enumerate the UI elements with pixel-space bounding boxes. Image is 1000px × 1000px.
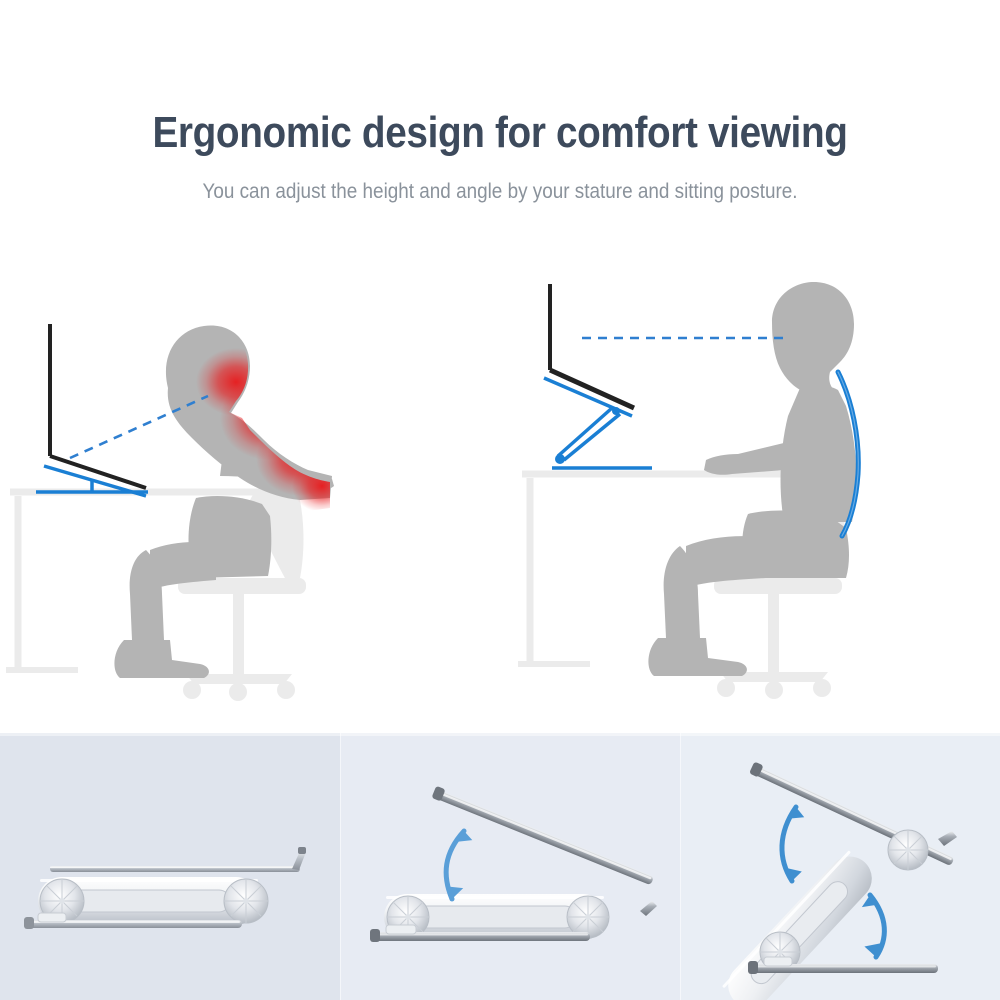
angle-adjust-arrow-tilted [444, 830, 472, 900]
bad-posture-illustration [0, 260, 500, 733]
product-panel-extended [680, 733, 1000, 1000]
stand-support-arm-extended [719, 847, 881, 1000]
good-posture-illustration [500, 260, 1000, 733]
product-photo-strip [0, 733, 1000, 1000]
laptop-on-low-stand [36, 324, 148, 496]
product-panel-tilted [340, 733, 680, 1000]
stand-lip-tilted [640, 901, 657, 916]
angle-adjust-arrow-lower [862, 894, 884, 959]
stand-base-rail-extended [748, 957, 938, 974]
stand-extended-svg [680, 733, 1000, 1000]
page-subtitle: You can adjust the height and angle by y… [50, 180, 950, 204]
stand-tilted-svg [340, 733, 680, 1000]
illustration-band [0, 260, 1000, 733]
stand-lip-extended [938, 831, 957, 846]
stand-hinge-hub-upper-extended [888, 830, 928, 870]
stand-top-plate-folded [50, 847, 306, 872]
angle-adjust-arrow-upper [782, 806, 804, 882]
stand-folded-svg [0, 733, 340, 1000]
page-title: Ergonomic design for comfort viewing [60, 108, 940, 158]
laptop-on-raised-stand [544, 284, 652, 468]
bad-posture-svg [0, 260, 500, 733]
header-block: Ergonomic design for comfort viewing You… [0, 0, 1000, 260]
person-silhouette-good [648, 282, 856, 676]
good-posture-svg [500, 260, 1000, 733]
product-panel-folded [0, 733, 340, 1000]
